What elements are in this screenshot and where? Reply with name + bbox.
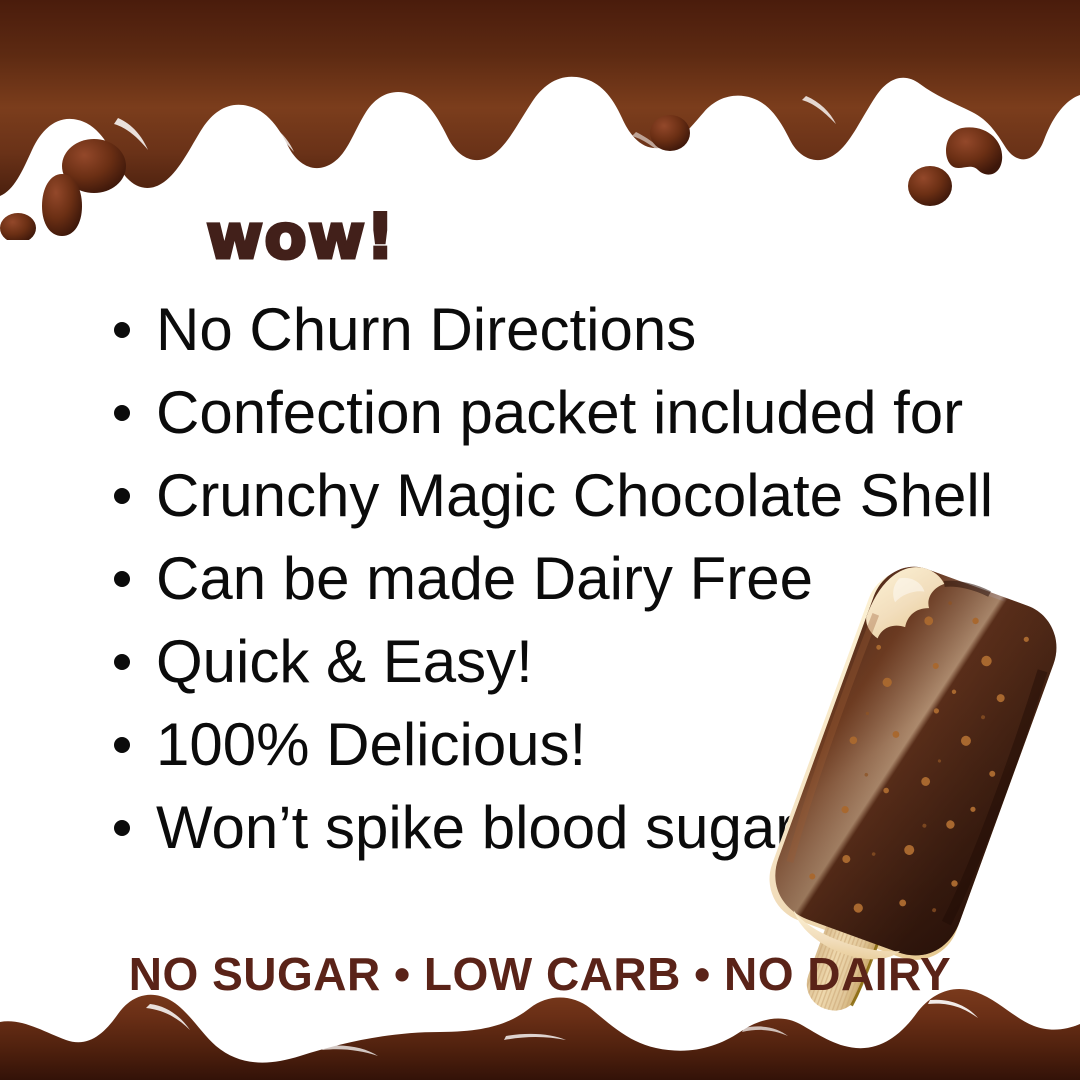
chocolate-droplet	[0, 213, 36, 240]
top-chocolate-drip-border	[0, 0, 1080, 240]
list-item: Confection packet included for	[104, 371, 1004, 454]
drip-highlight	[954, 128, 992, 160]
wave-highlight	[742, 1026, 788, 1036]
chocolate-droplet	[908, 166, 952, 206]
ice-cream-bar-illustration	[735, 545, 1080, 1015]
chocolate-droplet	[42, 174, 82, 236]
drip-highlight	[114, 118, 148, 150]
bar-body-group	[735, 554, 1069, 1015]
list-item: Crunchy Magic Chocolate Shell	[104, 454, 1004, 537]
chocolate-droplet	[62, 139, 126, 193]
wave-highlight	[322, 1045, 378, 1056]
drip-highlight	[802, 96, 836, 124]
list-item: No Churn Directions	[104, 288, 1004, 371]
wave-highlight	[146, 1004, 190, 1030]
page-title: wow!	[206, 206, 395, 268]
drip-highlight	[632, 132, 670, 162]
coating-shading	[762, 555, 1069, 968]
wave-highlight	[504, 1034, 566, 1040]
wave-highlight	[1046, 1021, 1076, 1026]
top-drip-shape	[0, 0, 1080, 196]
drip-highlight	[258, 120, 294, 152]
drip-highlight	[542, 148, 588, 180]
tagline: NO SUGAR • LOW CARB • NO DAIRY	[0, 947, 1080, 1001]
chocolate-droplet	[946, 127, 1002, 174]
chocolate-droplet	[650, 115, 690, 151]
poster-canvas: wow! No Churn Directions Confection pack…	[0, 0, 1080, 1080]
